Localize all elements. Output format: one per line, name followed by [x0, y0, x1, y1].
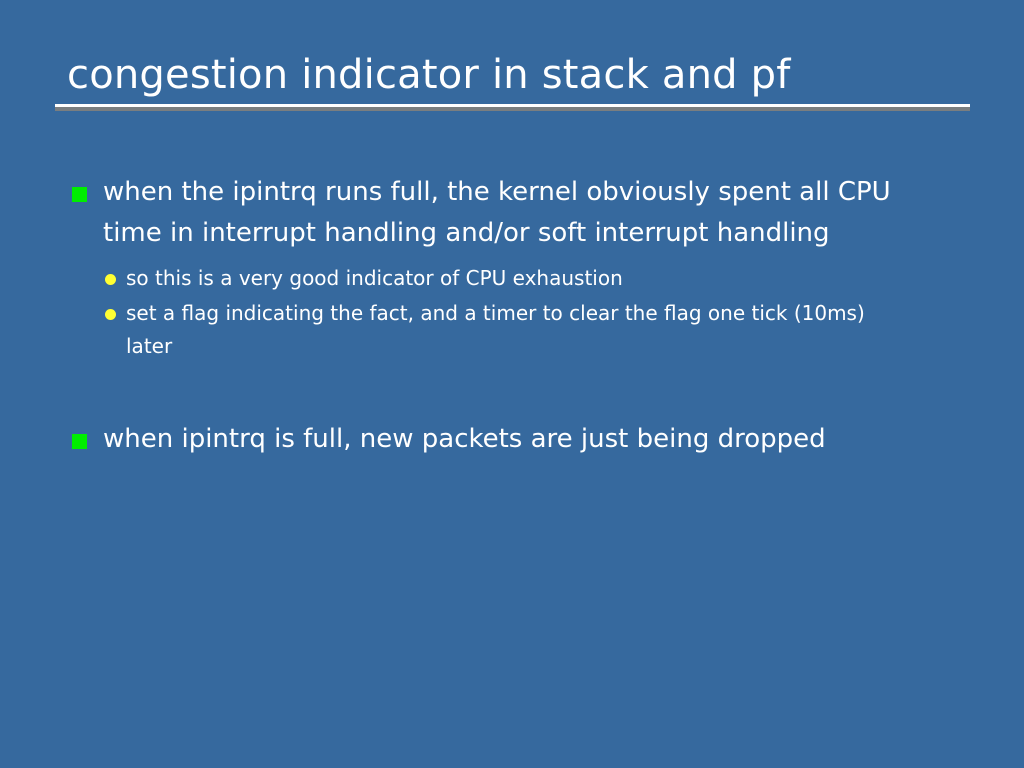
bullet-text-level2: set a flag indicating the fact, and a ti…	[126, 297, 886, 363]
bullet-text-level1: when ipintrq is full, new packets are ju…	[103, 419, 918, 460]
bullet-item-level2: set a flag indicating the fact, and a ti…	[105, 297, 972, 363]
bullet-item-level2: so this is a very good indicator of CPU …	[105, 262, 972, 295]
yellow-circle-bullet-icon	[105, 309, 116, 320]
bullet-text-level2: so this is a very good indicator of CPU …	[126, 262, 886, 295]
bullet-text-level1: when the ipintrq runs full, the kernel o…	[103, 172, 918, 254]
bullet-item-level1: when ipintrq is full, new packets are ju…	[72, 419, 972, 460]
green-square-bullet-icon	[72, 187, 87, 202]
title-divider-shadow-line	[55, 107, 970, 111]
sub-bullet-list: so this is a very good indicator of CPU …	[105, 262, 972, 363]
green-square-bullet-icon	[72, 434, 87, 449]
slide-body: when the ipintrq runs full, the kernel o…	[72, 172, 972, 462]
presentation-slide: congestion indicator in stack and pf whe…	[0, 0, 1024, 768]
bullet-group-spacer	[72, 365, 972, 419]
title-divider	[55, 104, 970, 111]
bullet-item-level1: when the ipintrq runs full, the kernel o…	[72, 172, 972, 254]
yellow-circle-bullet-icon	[105, 274, 116, 285]
page-title: congestion indicator in stack and pf	[55, 52, 970, 98]
slide-title-block: congestion indicator in stack and pf	[55, 52, 970, 111]
